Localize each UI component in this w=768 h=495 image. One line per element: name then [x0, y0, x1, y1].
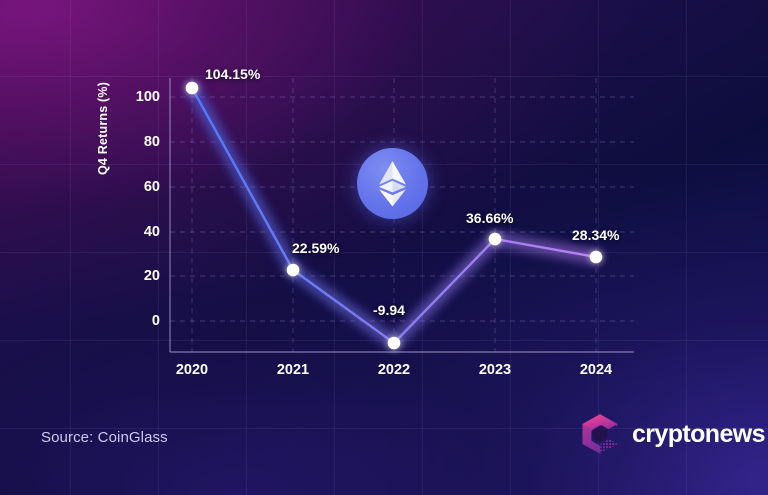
x-tick-label-2024: 2024 — [556, 362, 636, 378]
data-label-2022: -9.94 — [373, 302, 405, 318]
y-tick-label: 40 — [100, 224, 160, 240]
y-tick-label: 100 — [100, 89, 160, 105]
cryptonews-wordmark: cryptonews — [632, 420, 765, 449]
x-tick-label-2022: 2022 — [354, 362, 434, 378]
data-point-2023[interactable] — [489, 233, 502, 246]
data-point-2020[interactable] — [186, 82, 199, 95]
y-tick-label: 20 — [100, 268, 160, 284]
x-tick-label-2021: 2021 — [253, 362, 333, 378]
x-tick-label-2023: 2023 — [455, 362, 535, 378]
cryptonews-logo[interactable]: cryptonews — [578, 412, 765, 456]
data-label-2023: 36.66% — [466, 210, 513, 226]
cryptonews-mark-icon — [578, 412, 622, 456]
data-label-2021: 22.59% — [292, 240, 339, 256]
y-tick-label: 80 — [100, 134, 160, 150]
x-tick-label-2020: 2020 — [152, 362, 232, 378]
y-tick-label: 0 — [100, 313, 160, 329]
y-axis-ticks: 0 20 40 60 80 100 — [98, 0, 160, 495]
data-point-2021[interactable] — [287, 264, 300, 277]
ethereum-icon — [357, 148, 428, 219]
ethereum-logo-badge — [357, 148, 428, 219]
data-label-2024: 28.34% — [572, 227, 619, 243]
data-point-2022[interactable] — [388, 337, 401, 350]
data-point-2024[interactable] — [590, 251, 603, 264]
source-caption: Source: CoinGlass — [41, 429, 168, 446]
data-label-2020: 104.15% — [205, 66, 260, 82]
y-tick-label: 60 — [100, 179, 160, 195]
chart-canvas: Q4 Returns (%) 0 20 40 60 80 100 2020 20… — [0, 0, 768, 495]
